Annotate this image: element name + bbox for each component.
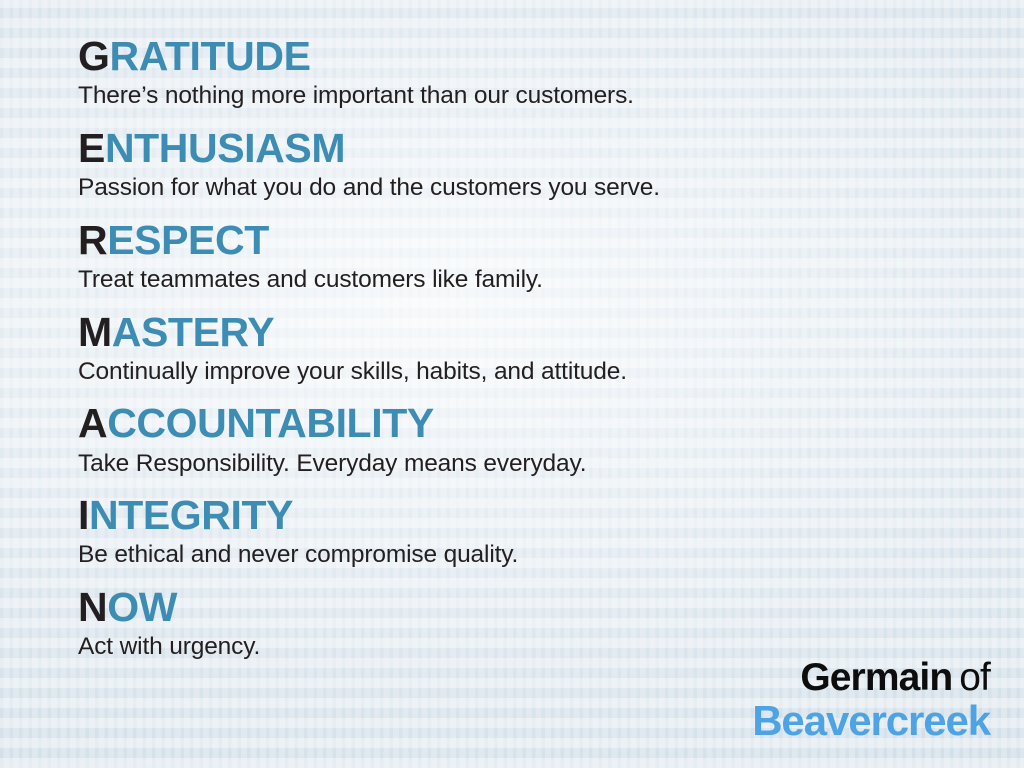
value-initial-letter: R — [78, 217, 107, 263]
values-list: GRATITUDE There’s nothing more important… — [0, 0, 1024, 768]
value-heading-now: NOW — [78, 585, 1024, 629]
value-heading-rest: ASTERY — [112, 309, 274, 355]
value-description-integrity: Be ethical and never compromise quality. — [78, 539, 1024, 571]
value-block-respect: RESPECT Treat teammates and customers li… — [78, 218, 1024, 297]
logo-connector-word: of — [959, 656, 990, 699]
value-block-mastery: MASTERY Continually improve your skills,… — [78, 310, 1024, 389]
value-initial-letter: N — [78, 584, 107, 630]
value-heading-rest: OW — [107, 584, 177, 630]
value-initial-letter: E — [78, 125, 105, 171]
value-heading-mastery: MASTERY — [78, 310, 1024, 354]
value-initial-letter: M — [78, 309, 112, 355]
value-description-accountability: Take Responsibility. Everyday means ever… — [78, 448, 1024, 480]
dealership-logo: Germainof Beavercreek — [752, 658, 990, 742]
value-heading-accountability: ACCOUNTABILITY — [78, 401, 1024, 445]
value-block-accountability: ACCOUNTABILITY Take Responsibility. Ever… — [78, 401, 1024, 480]
value-heading-respect: RESPECT — [78, 218, 1024, 262]
logo-location-name: Beavercreek — [752, 700, 990, 742]
value-heading-enthusiasm: ENTHUSIASM — [78, 126, 1024, 170]
value-heading-rest: CCOUNTABILITY — [107, 400, 434, 446]
value-initial-letter: G — [78, 33, 110, 79]
value-description-respect: Treat teammates and customers like famil… — [78, 264, 1024, 296]
value-heading-rest: RATITUDE — [110, 33, 311, 79]
value-description-mastery: Continually improve your skills, habits,… — [78, 356, 1024, 388]
value-description-enthusiasm: Passion for what you do and the customer… — [78, 172, 1024, 204]
value-block-now: NOW Act with urgency. — [78, 585, 1024, 664]
value-description-gratitude: There’s nothing more important than our … — [78, 80, 1024, 112]
value-heading-rest: ESPECT — [107, 217, 269, 263]
logo-brand-name: Germain — [800, 656, 952, 699]
value-heading-rest: NTHUSIASM — [105, 125, 345, 171]
logo-primary-line: Germainof — [752, 658, 990, 697]
value-block-integrity: INTEGRITY Be ethical and never compromis… — [78, 493, 1024, 572]
value-block-enthusiasm: ENTHUSIASM Passion for what you do and t… — [78, 126, 1024, 205]
value-heading-gratitude: GRATITUDE — [78, 34, 1024, 78]
value-initial-letter: I — [78, 492, 89, 538]
value-initial-letter: A — [78, 400, 107, 446]
value-block-gratitude: GRATITUDE There’s nothing more important… — [78, 34, 1024, 113]
value-heading-integrity: INTEGRITY — [78, 493, 1024, 537]
value-heading-rest: NTEGRITY — [89, 492, 293, 538]
